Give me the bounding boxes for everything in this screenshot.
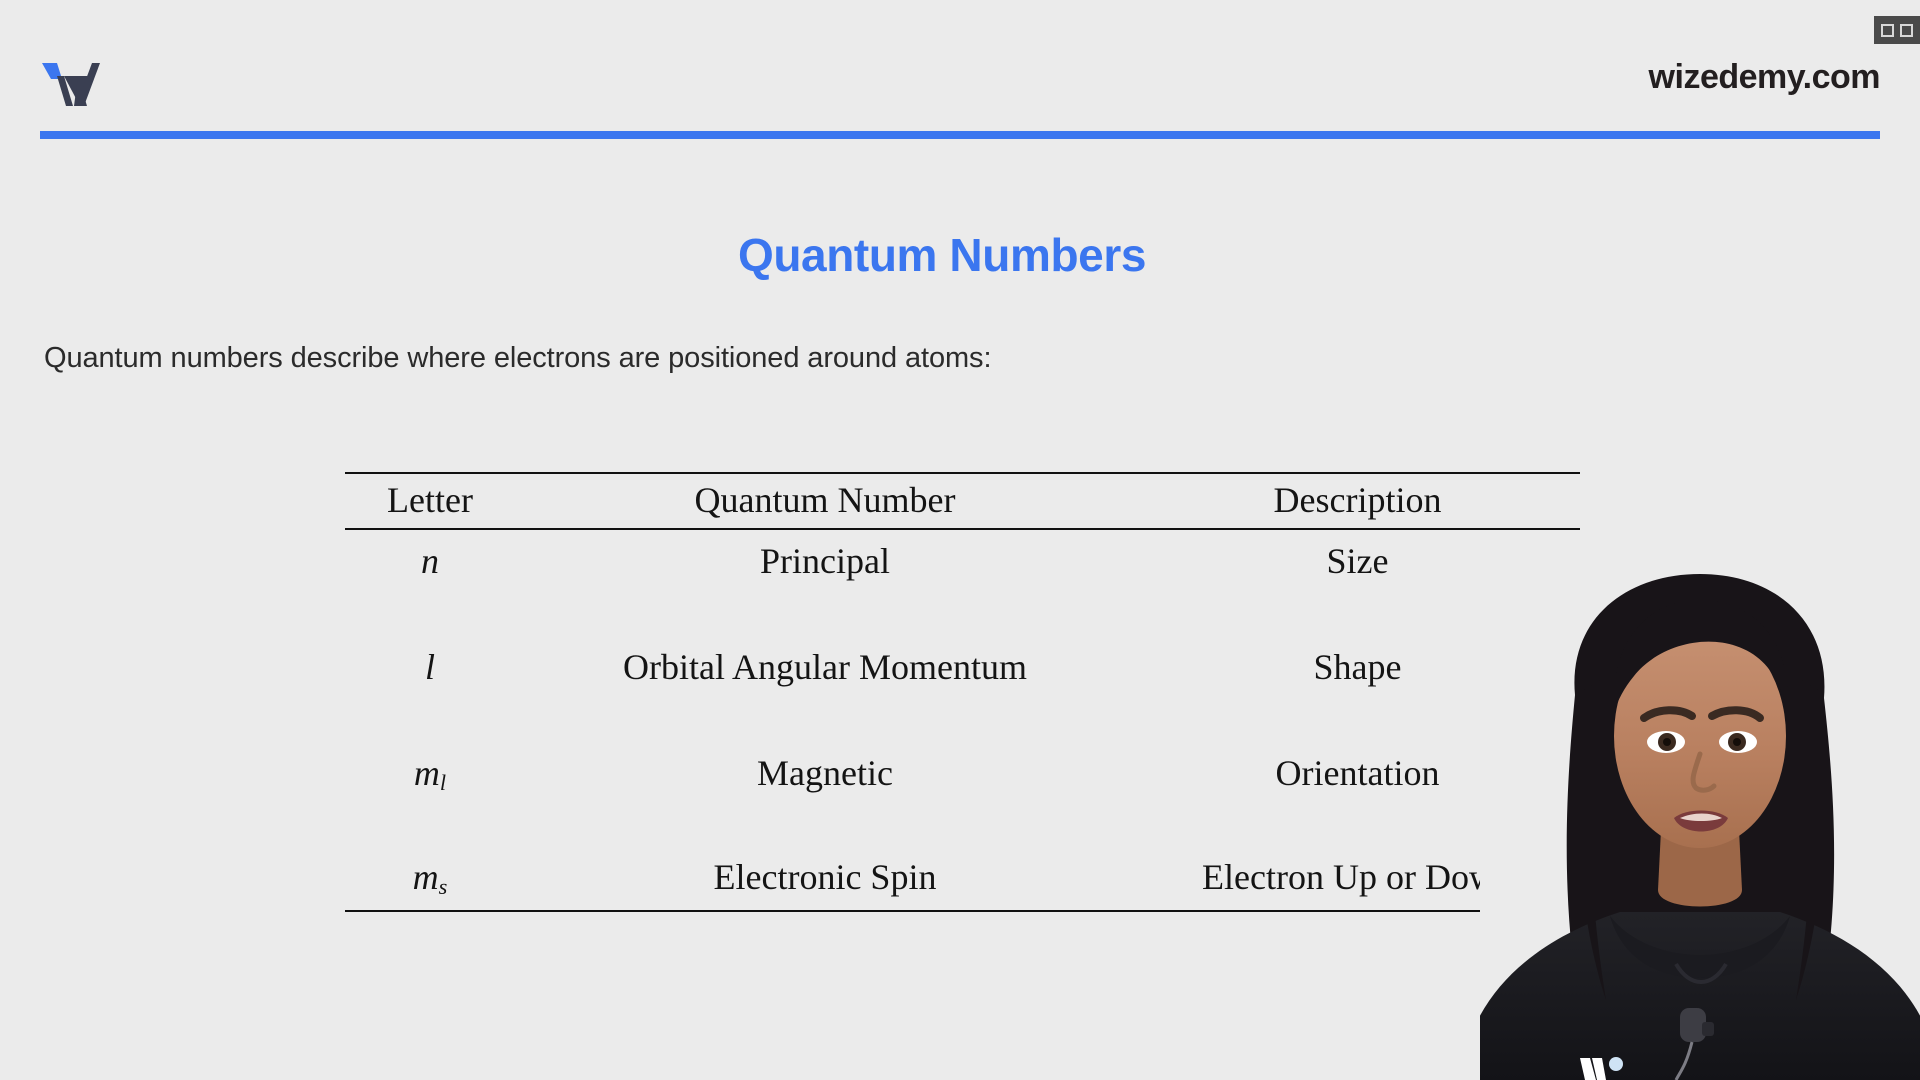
letter-base: n: [421, 541, 439, 581]
cell-quantum-number: Orbital Angular Momentum: [515, 636, 1135, 698]
row-spacer: [345, 592, 1580, 636]
slide-header: wizedemy.com: [0, 0, 1920, 150]
table-row: ms Electronic Spin Electron Up or Down: [345, 846, 1580, 910]
column-header-description: Description: [1135, 479, 1580, 521]
page-title: Quantum Numbers: [0, 228, 1920, 282]
cell-quantum-number: Principal: [515, 530, 1135, 592]
column-header-letter: Letter: [345, 479, 515, 521]
table-row: n Principal Size: [345, 530, 1580, 592]
column-header-quantum-number: Quantum Number: [515, 479, 1135, 521]
presenter-video[interactable]: [1480, 560, 1920, 1080]
letter-base: l: [425, 647, 435, 687]
wizedemy-w-logo-icon: [40, 62, 118, 114]
table-row: l Orbital Angular Momentum Shape: [345, 636, 1580, 698]
slide-subtitle: Quantum numbers describe where electrons…: [44, 342, 991, 375]
brand-site-label: wizedemy.com: [1649, 60, 1880, 94]
table-bottom-rule: [345, 910, 1580, 912]
row-spacer: [345, 698, 1580, 742]
window-controls-overlay[interactable]: [1874, 16, 1920, 44]
window-square-icon[interactable]: [1881, 24, 1894, 37]
cell-letter: ml: [345, 742, 515, 806]
letter-subscript: s: [439, 874, 448, 899]
table-row: ml Magnetic Orientation: [345, 742, 1580, 806]
cell-letter: n: [345, 530, 515, 592]
header-divider: [40, 131, 1880, 139]
cell-letter: l: [345, 636, 515, 698]
slide-canvas: wizedemy.com Quantum Numbers Quantum num…: [0, 0, 1920, 1080]
letter-base: m: [413, 857, 439, 897]
window-square-icon[interactable]: [1900, 24, 1913, 37]
quantum-numbers-table: Letter Quantum Number Description n Prin…: [345, 472, 1580, 912]
cell-quantum-number: Magnetic: [515, 742, 1135, 806]
letter-subscript: l: [440, 770, 446, 795]
table-header-row: Letter Quantum Number Description: [345, 474, 1580, 528]
cell-letter: ms: [345, 846, 515, 910]
cell-quantum-number: Electronic Spin: [515, 846, 1135, 910]
letter-base: m: [414, 753, 440, 793]
row-spacer: [345, 806, 1580, 846]
page-title-text: Quantum Numbers: [738, 228, 1146, 282]
